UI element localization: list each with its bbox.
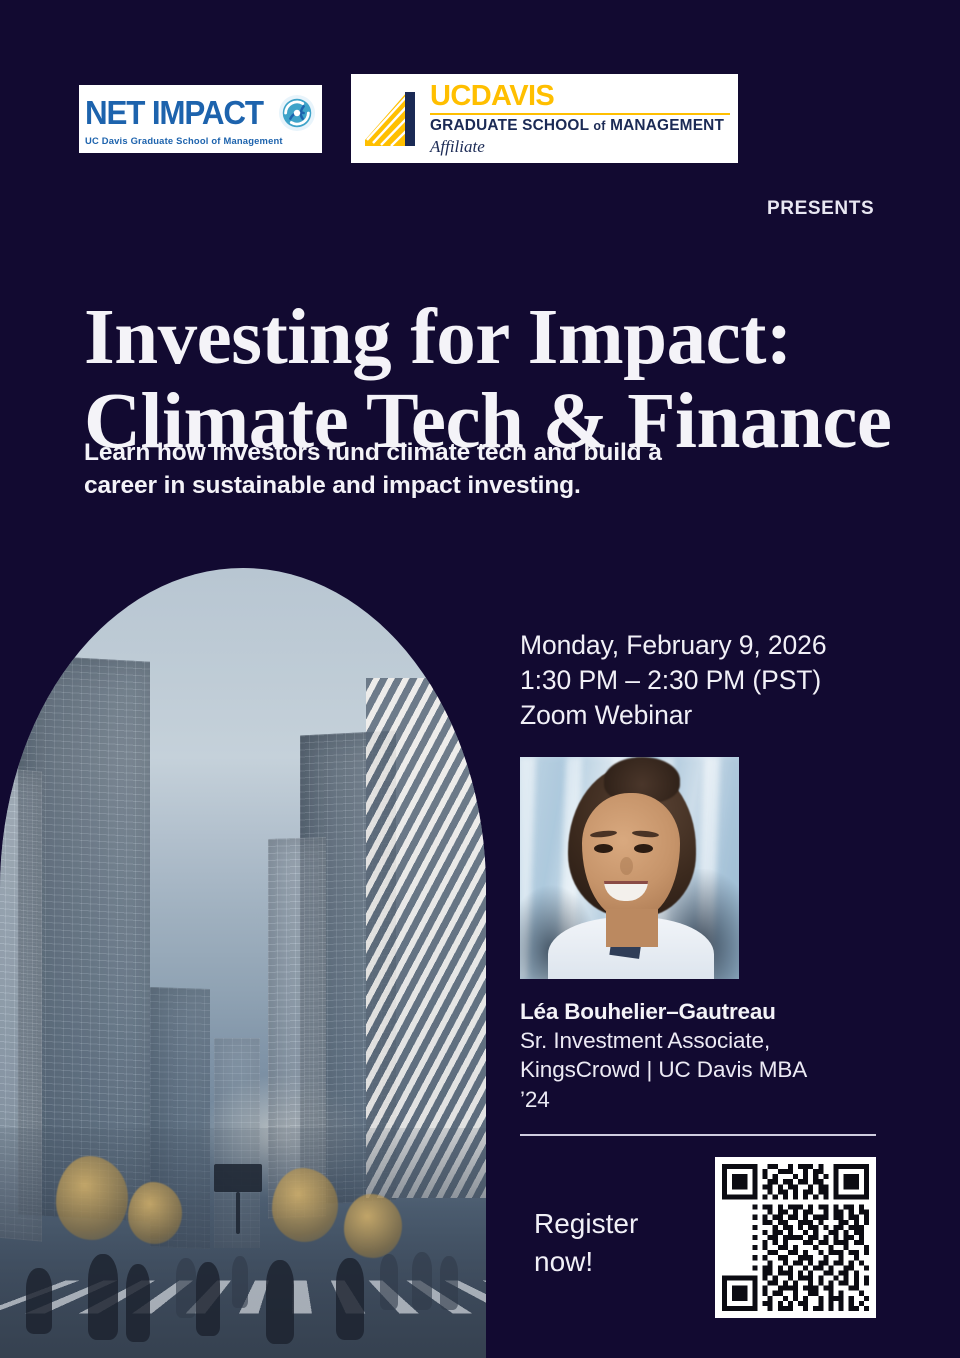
of-text: of xyxy=(593,119,605,133)
speaker-role-line-1: Sr. Investment Associate, xyxy=(520,1026,880,1055)
globe-network-icon xyxy=(278,94,316,132)
management-text: MANAGEMENT xyxy=(610,117,724,134)
ucdavis-gsm-logo: UCDAVIS GRADUATE SCHOOL of MANAGEMENT Af… xyxy=(351,74,738,163)
uc-text: UC xyxy=(430,80,471,112)
presents-label: PRESENTS xyxy=(767,198,874,220)
pedestrian xyxy=(380,1254,398,1310)
register-line-1: Register xyxy=(534,1205,638,1243)
logo-rule xyxy=(430,113,730,115)
building-striped-right xyxy=(366,678,486,1198)
speaker-headshot xyxy=(520,757,739,979)
page-subtitle: Learn how investors fund climate tech an… xyxy=(84,437,824,502)
event-details: Monday, February 9, 2026 1:30 PM – 2:30 … xyxy=(520,628,826,734)
header-logo-bar: NET IMPACT UC Davis Graduate School of M… xyxy=(0,74,960,164)
ucdavis-school-line: GRADUATE SCHOOL of MANAGEMENT xyxy=(430,118,730,134)
event-platform: Zoom Webinar xyxy=(520,698,826,733)
pedestrian xyxy=(26,1268,52,1334)
qr-code[interactable] xyxy=(715,1157,876,1318)
headshot-eye-left xyxy=(594,844,613,853)
headshot-eye-right xyxy=(634,844,653,853)
speaker-name: Léa Bouhelier–Gautreau xyxy=(520,999,776,1025)
traffic-signal xyxy=(214,1164,262,1192)
net-impact-logo: NET IMPACT UC Davis Graduate School of M… xyxy=(79,85,322,153)
net-impact-chapter-label: UC Davis Graduate School of Management xyxy=(85,133,316,145)
pedestrian xyxy=(88,1254,118,1340)
affiliate-text: Affiliate xyxy=(430,138,730,155)
subtitle-line-1: Learn how investors fund climate tech an… xyxy=(84,437,824,470)
register-cta-text: Register now! xyxy=(534,1205,638,1281)
davis-text: DAVIS xyxy=(471,80,554,112)
pedestrian xyxy=(440,1256,458,1310)
pedestrian xyxy=(336,1258,364,1340)
event-poster: NET IMPACT UC Davis Graduate School of M… xyxy=(0,0,960,1358)
pedestrian xyxy=(266,1260,294,1344)
register-line-2: now! xyxy=(534,1243,638,1281)
street-tree-1 xyxy=(56,1156,128,1240)
pedestrian xyxy=(176,1258,196,1318)
street-tree-4 xyxy=(344,1194,402,1258)
pedestrian xyxy=(126,1264,150,1342)
city-photo-sky xyxy=(0,568,486,1358)
pedestrian xyxy=(196,1262,220,1336)
title-line-1: Investing for Impact: xyxy=(84,296,904,380)
speaker-role: Sr. Investment Associate, KingsCrowd | U… xyxy=(520,1026,880,1114)
pedestrian xyxy=(412,1252,432,1310)
street-tree-2 xyxy=(128,1182,182,1244)
ucdavis-sunburst-icon xyxy=(365,90,420,148)
ucdavis-wordmark: UCDAVIS xyxy=(430,82,730,111)
section-divider xyxy=(520,1134,876,1136)
pedestrian xyxy=(232,1256,248,1308)
event-time: 1:30 PM – 2:30 PM (PST) xyxy=(520,663,826,698)
street-tree-3 xyxy=(272,1168,338,1242)
headshot-nose xyxy=(620,857,633,875)
event-date: Monday, February 9, 2026 xyxy=(520,628,826,663)
speaker-role-line-3: ’24 xyxy=(520,1085,880,1114)
traffic-signal-pole xyxy=(236,1192,240,1234)
speaker-role-line-2: KingsCrowd | UC Davis MBA xyxy=(520,1055,880,1084)
city-street-photo xyxy=(0,568,486,1358)
graduate-school-text: GRADUATE SCHOOL xyxy=(430,117,589,134)
subtitle-line-2: career in sustainable and impact investi… xyxy=(84,470,824,503)
net-impact-wordmark: NET IMPACT xyxy=(85,96,263,129)
headshot-neck xyxy=(606,909,658,947)
